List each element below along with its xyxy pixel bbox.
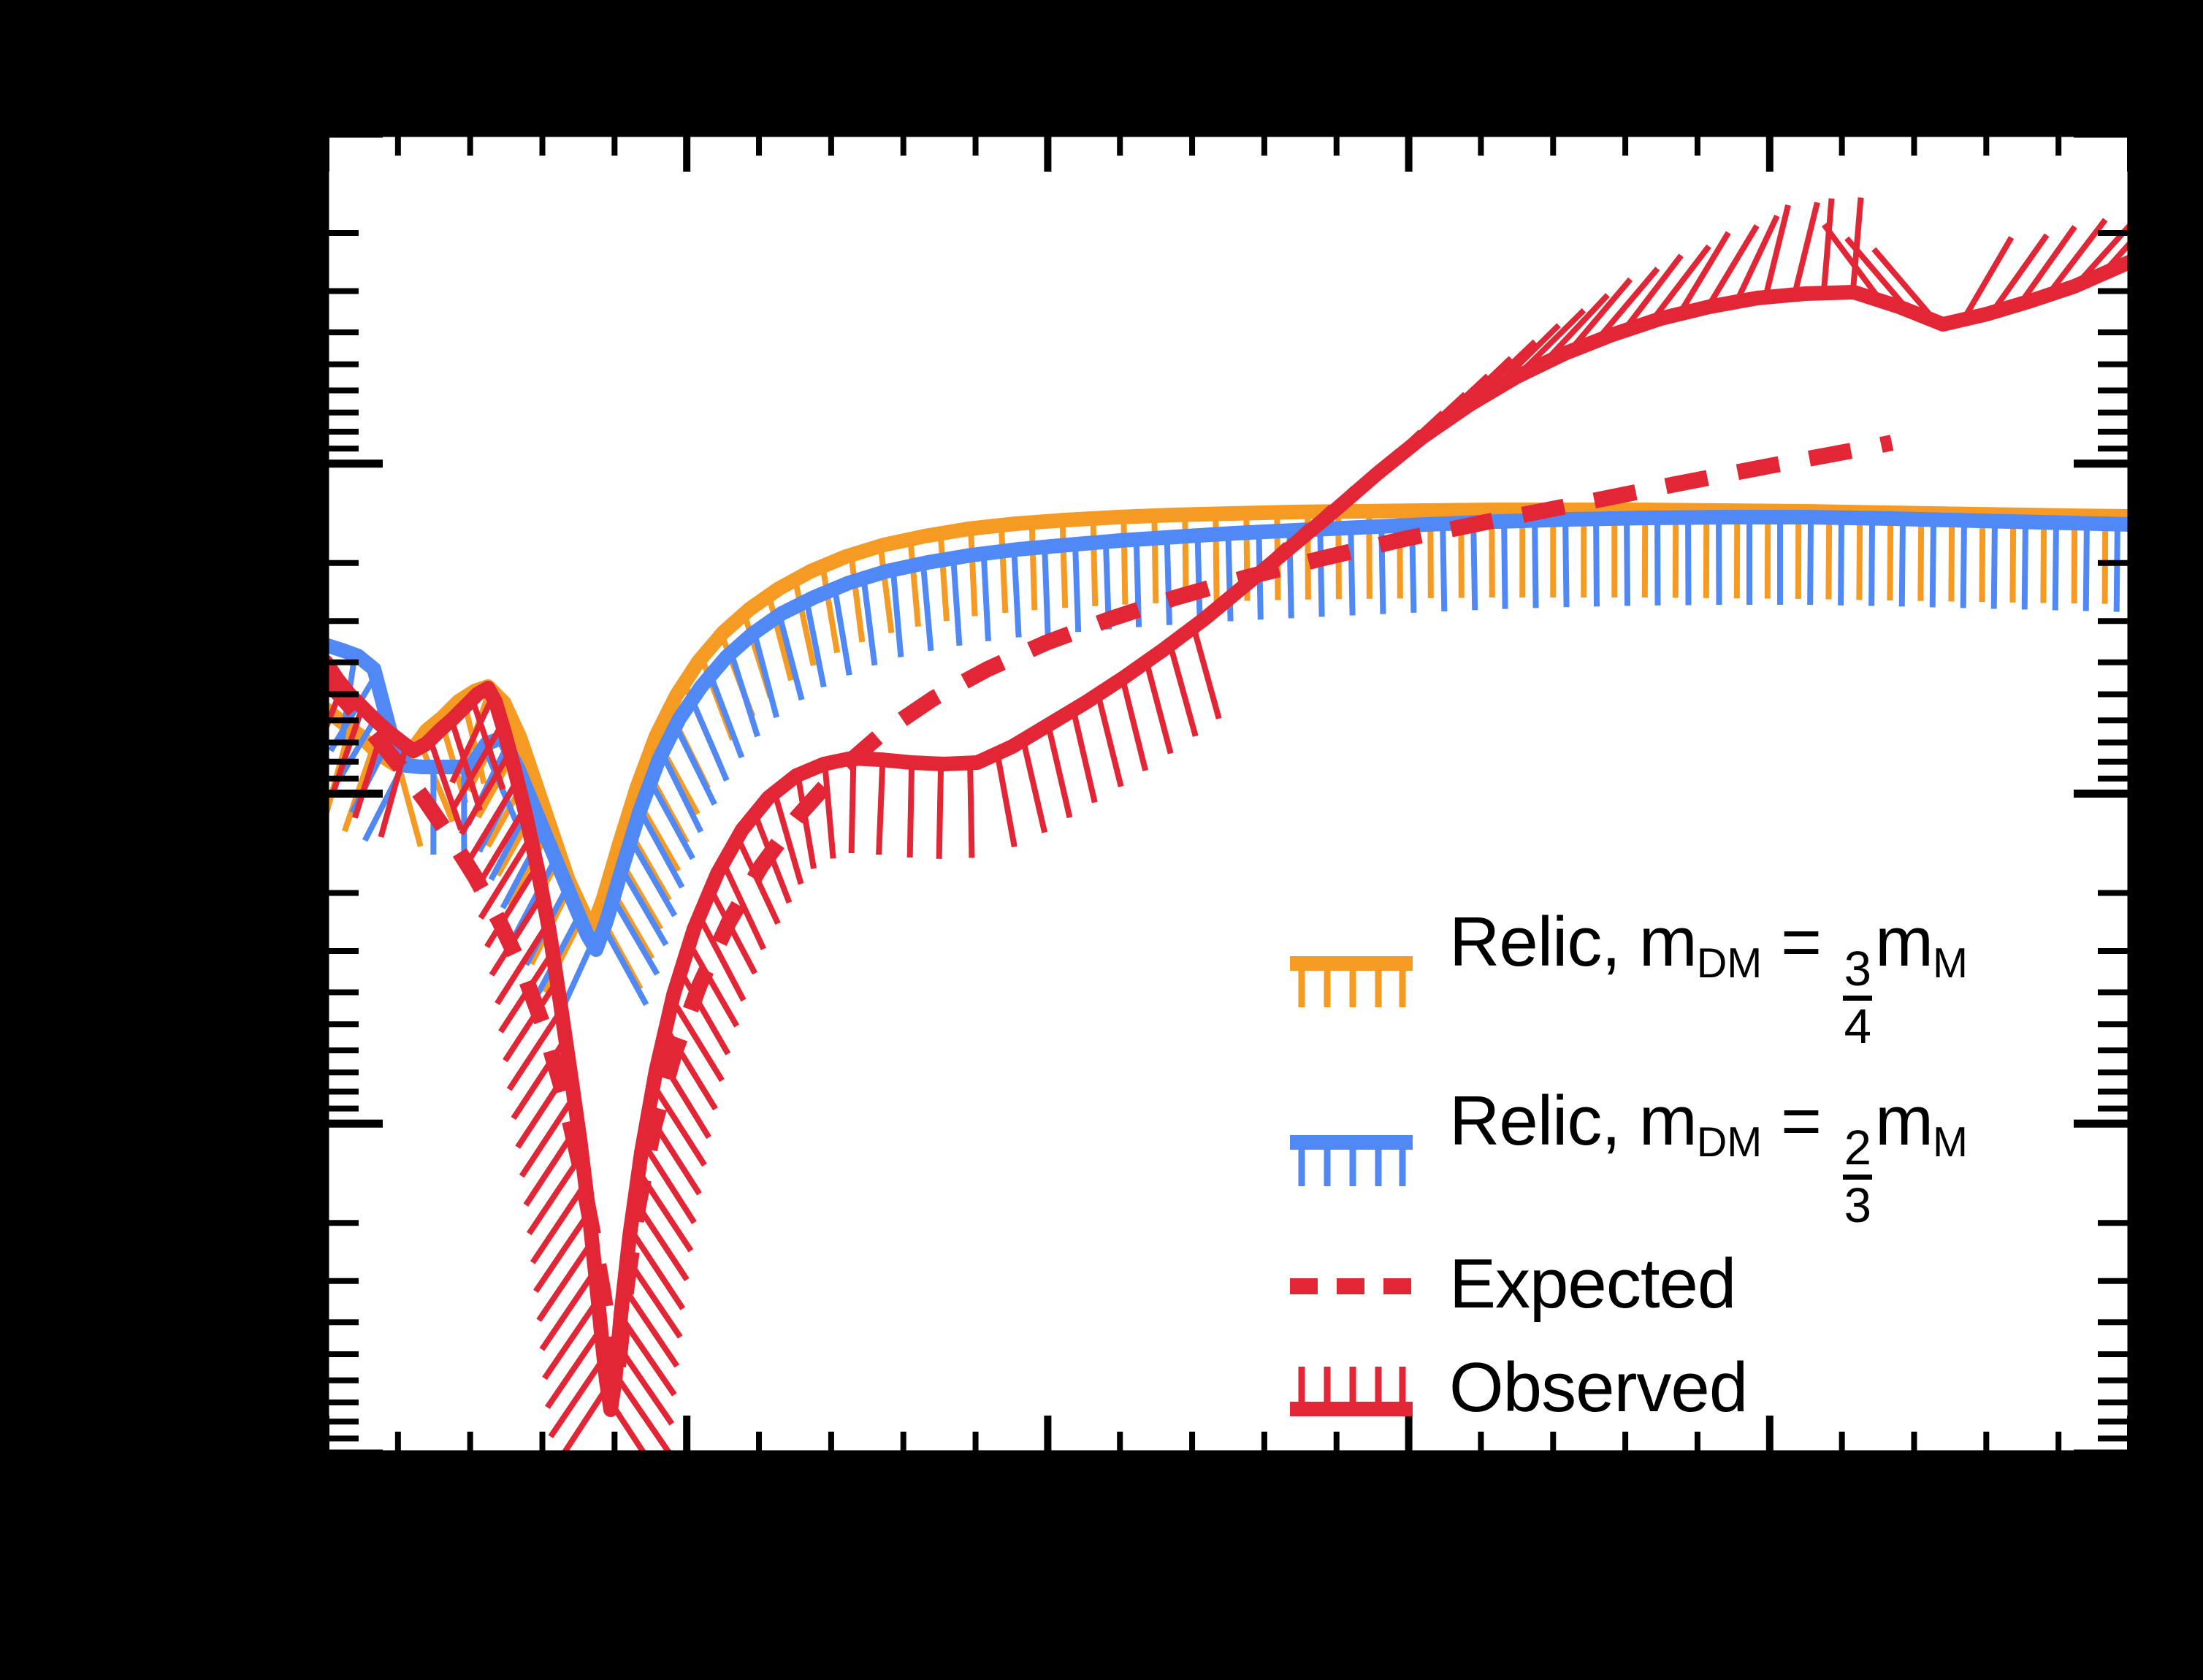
frac-num: 3 [1843, 945, 1872, 993]
lbl-sub2: M [1933, 940, 1968, 987]
legend-label-observed: Observed [1449, 1353, 1747, 1423]
legend-key-relic-34 [1286, 946, 1417, 1012]
lbl-suffix: m [1875, 903, 1933, 981]
legend-key-observed [1286, 1355, 1417, 1421]
frac-den: 3 [1843, 1182, 1872, 1230]
lbl-eq: = [1762, 1082, 1839, 1160]
legend-entry-relic-34[interactable]: Relic, mDM = 34mM [1286, 907, 1968, 1051]
legend-key-relic-23 [1286, 1125, 1417, 1191]
legend-entry-observed[interactable]: Observed [1286, 1353, 1747, 1423]
figure-root: Relic, mDM = 34mM Relic, mDM = 23mM [0, 0, 2203, 1680]
chart-legend: Relic, mDM = 34mM Relic, mDM = 23mM [1286, 900, 2126, 1411]
legend-label-relic-23: Relic, mDM = 23mM [1449, 1086, 1968, 1230]
frac-num: 2 [1843, 1124, 1872, 1172]
lbl-eq: = [1762, 903, 1839, 981]
lbl-suffix: m [1875, 1082, 1933, 1160]
legend-entry-relic-23[interactable]: Relic, mDM = 23mM [1286, 1086, 1968, 1230]
legend-label-relic-34: Relic, mDM = 34mM [1449, 907, 1968, 1051]
legend-entry-expected[interactable]: Expected [1286, 1249, 1736, 1319]
legend-label-expected: Expected [1449, 1249, 1736, 1319]
lbl-prefix: Relic, m [1449, 903, 1697, 981]
lbl-sub1: DM [1697, 1119, 1763, 1166]
fraction-2-3: 23 [1843, 1124, 1872, 1230]
lbl-prefix: Relic, m [1449, 1082, 1697, 1160]
lbl-sub2: M [1933, 1119, 1968, 1166]
fraction-3-4: 34 [1843, 945, 1872, 1051]
frac-den: 4 [1843, 1003, 1872, 1051]
lbl-sub1: DM [1697, 940, 1763, 987]
legend-key-expected [1286, 1251, 1417, 1317]
